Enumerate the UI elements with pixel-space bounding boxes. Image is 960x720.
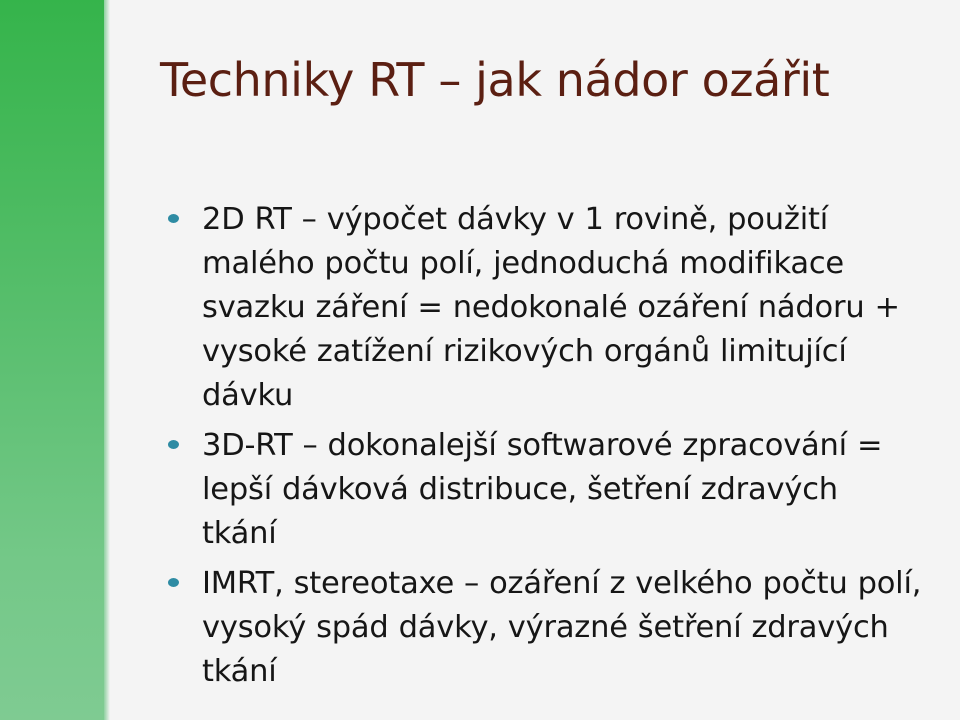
left-accent-bar-fade <box>104 0 110 720</box>
list-item-text: IMRT, stereotaxe – ozáření z velkého poč… <box>202 562 922 694</box>
list-item: 2D RT – výpočet dávky v 1 rovině, použit… <box>162 198 922 418</box>
left-accent-bar <box>0 0 104 720</box>
list-item: IMRT, stereotaxe – ozáření z velkého poč… <box>162 562 922 694</box>
list-item-text: 2D RT – výpočet dávky v 1 rovině, použit… <box>202 198 922 418</box>
slide-canvas: Techniky RT – jak nádor ozářit 2D RT – v… <box>0 0 960 720</box>
bullet-dot-icon <box>162 424 202 449</box>
bullet-dot-icon <box>162 198 202 223</box>
slide-body: 2D RT – výpočet dávky v 1 rovině, použit… <box>162 198 922 700</box>
bullet-dot-icon <box>162 562 202 587</box>
list-item-text: 3D-RT – dokonalejší softwarové zpracován… <box>202 424 922 556</box>
slide-title: Techniky RT – jak nádor ozářit <box>160 52 920 108</box>
list-item: 3D-RT – dokonalejší softwarové zpracován… <box>162 424 922 556</box>
